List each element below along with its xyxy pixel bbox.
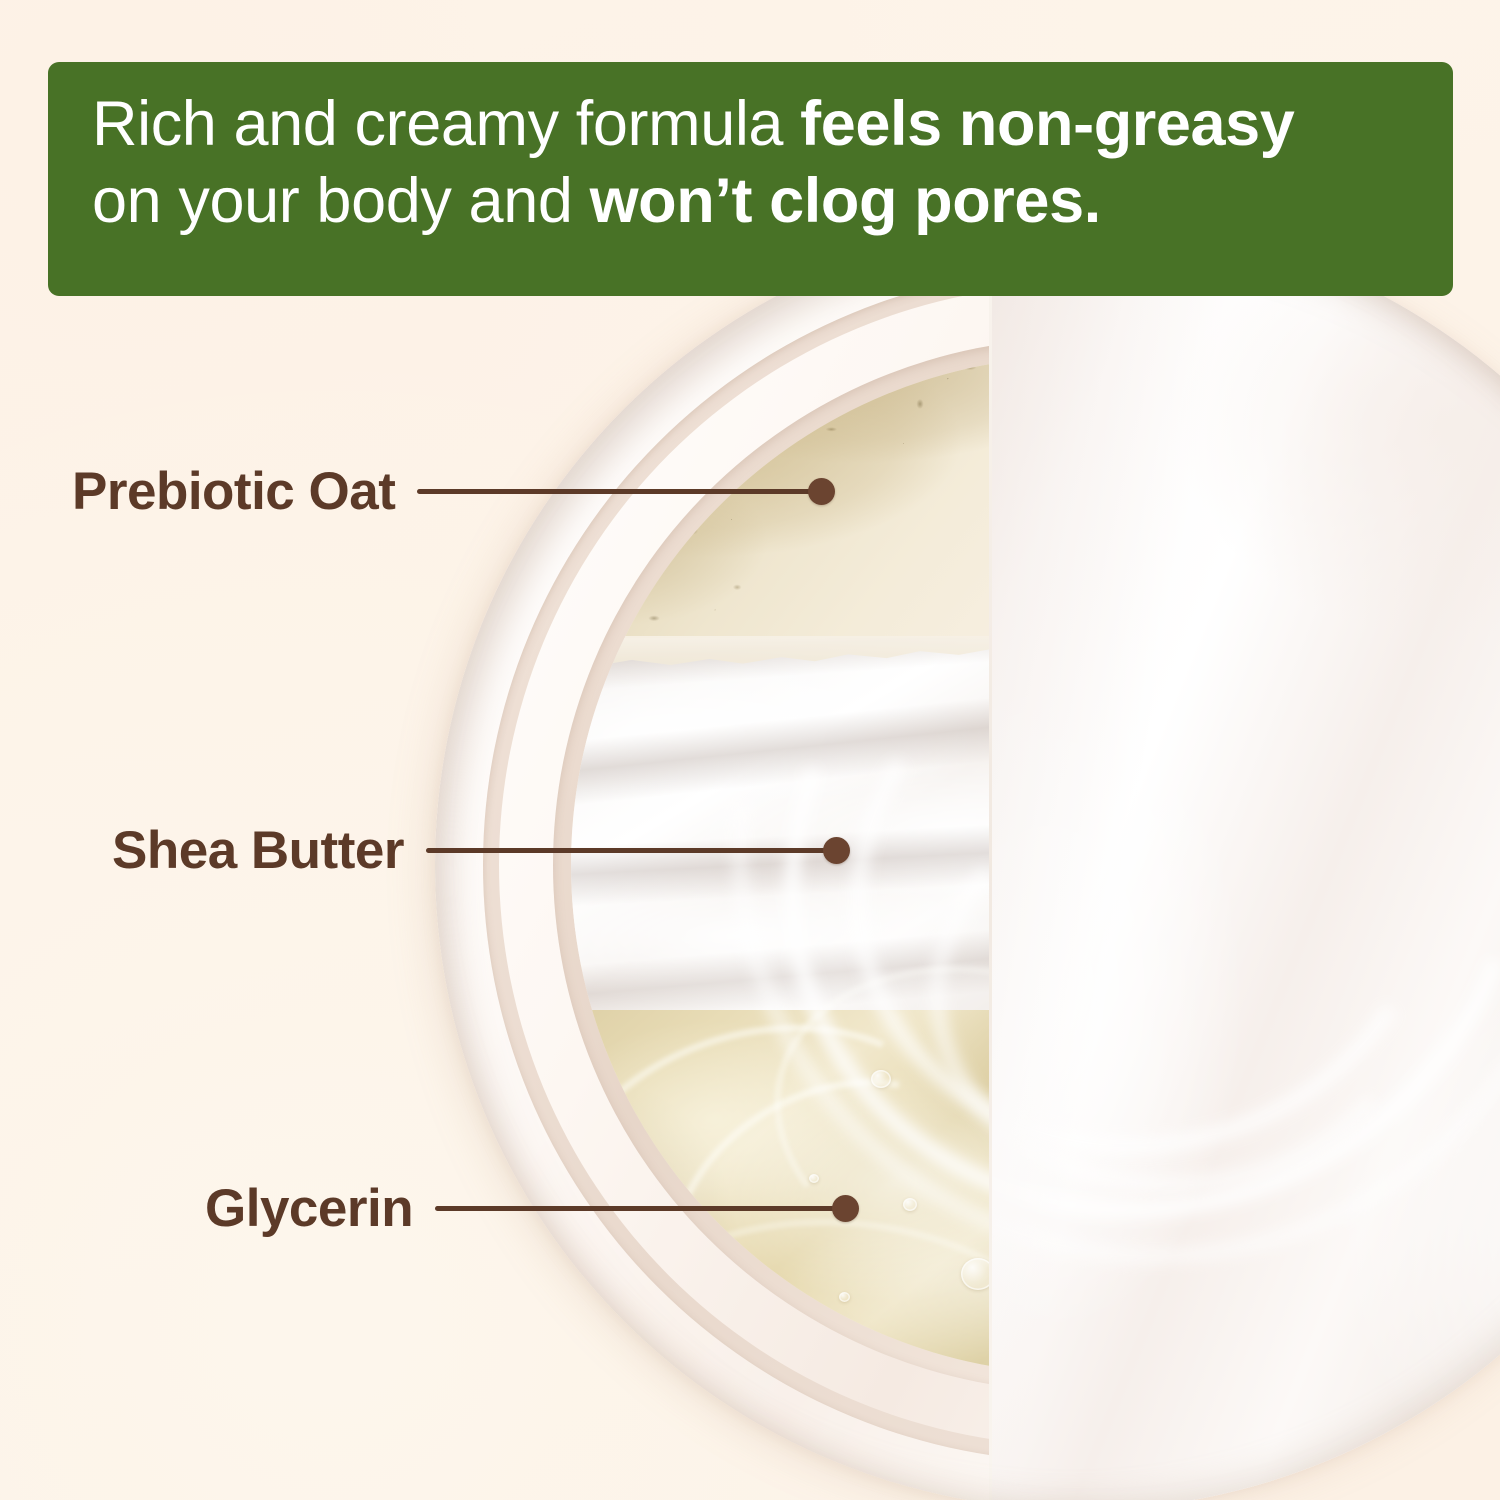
leader-line-shea-butter bbox=[426, 848, 826, 853]
callout-label-glycerin: Glycerin bbox=[205, 1182, 413, 1235]
leader-dot-glycerin bbox=[832, 1195, 859, 1222]
callout-label-prebiotic-oat: Prebiotic Oat bbox=[72, 465, 395, 518]
panel-split-divider bbox=[989, 220, 992, 1500]
callout-glycerin: Glycerin bbox=[205, 1173, 859, 1243]
gel-bubble bbox=[903, 1198, 917, 1211]
white-cream-swirl bbox=[989, 220, 1500, 1500]
leader-dot-shea-butter bbox=[823, 837, 850, 864]
leader-dot-prebiotic-oat bbox=[808, 478, 835, 505]
headline-line1-bold: feels non-greasy bbox=[800, 89, 1294, 159]
callout-label-shea-butter: Shea Butter bbox=[112, 824, 404, 877]
headline-banner: Rich and creamy formula feels non-greasy… bbox=[48, 62, 1453, 296]
headline-line2-plain: on your body and bbox=[92, 166, 590, 236]
headline-line1-plain: Rich and creamy formula bbox=[92, 89, 800, 159]
headline-text: Rich and creamy formula feels non-greasy… bbox=[92, 86, 1294, 241]
leader-line-prebiotic-oat bbox=[417, 489, 811, 494]
headline-line2-bold: won’t clog pores. bbox=[590, 166, 1101, 236]
callout-prebiotic-oat: Prebiotic Oat bbox=[72, 456, 835, 526]
callout-shea-butter: Shea Butter bbox=[112, 815, 850, 885]
cream-swirl-column bbox=[989, 220, 1500, 1500]
leader-line-glycerin bbox=[435, 1206, 835, 1211]
gel-bubble bbox=[839, 1292, 850, 1302]
